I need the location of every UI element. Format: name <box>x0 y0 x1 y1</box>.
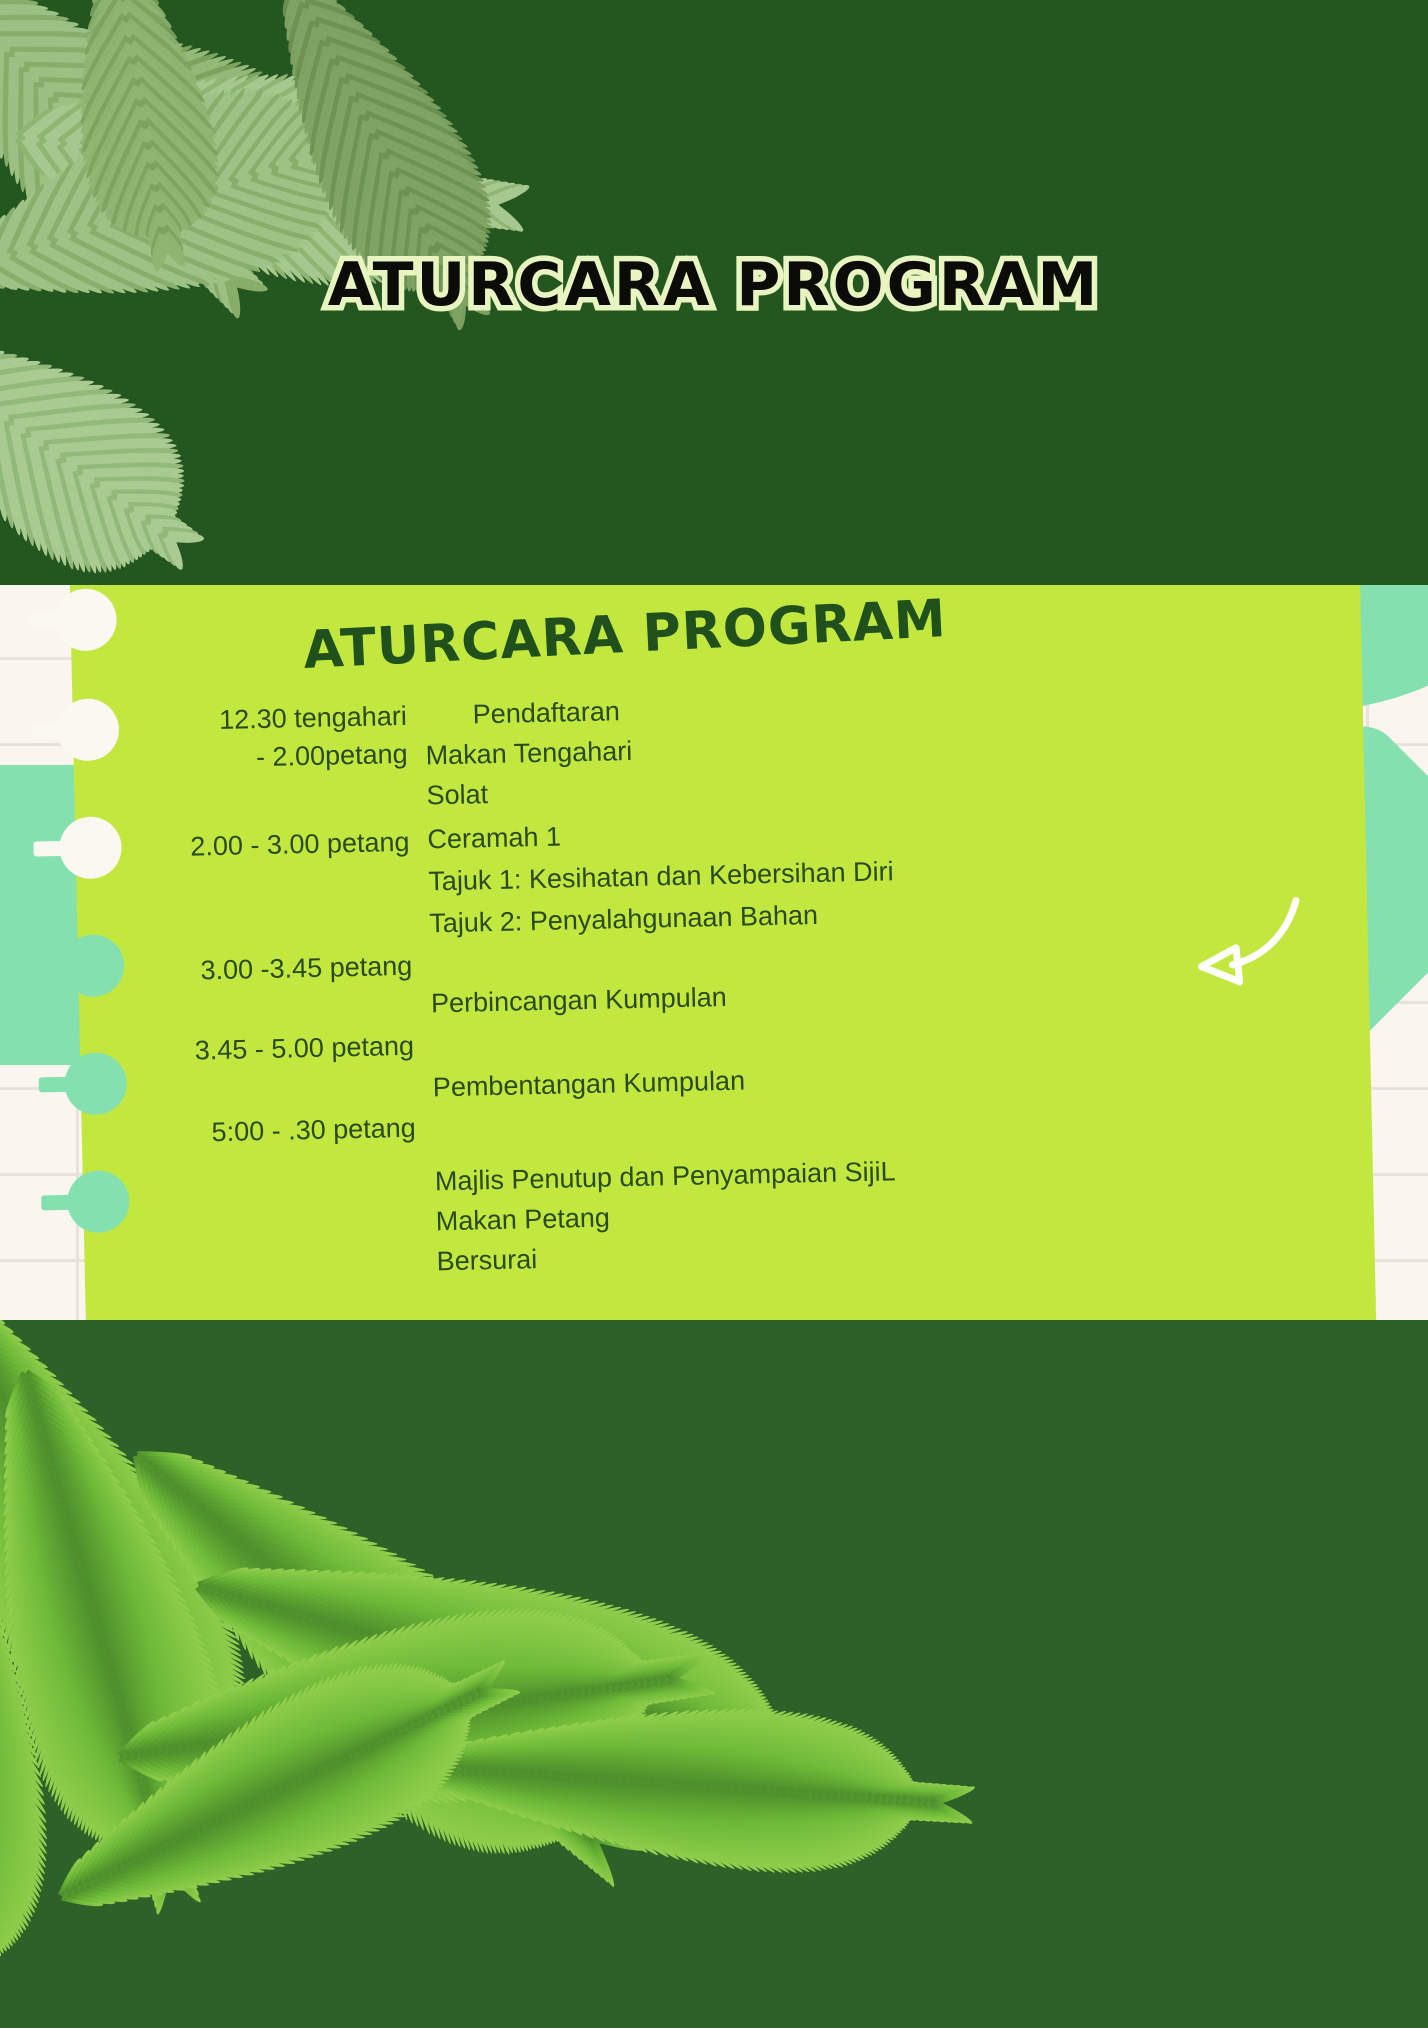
punch-hole-icon <box>61 934 124 997</box>
schedule-activity-4: Tajuk 1: Kesihatan dan Kebersihan Diri <box>428 855 894 898</box>
punch-hole-icon <box>56 698 119 761</box>
schedule-time-column: 12.30 tengahari- 2.00petang2.00 - 3.00 p… <box>106 700 406 707</box>
schedule-card: ATURCARA PROGRAM 12.30 tengahari- 2.00pe… <box>69 585 1376 1320</box>
poster-canvas: ATURCARA PROGRAM ATURCARA PROGRAM 12.30 … <box>0 0 1428 2028</box>
schedule-activity-10: Bersurai <box>436 1243 537 1278</box>
punch-hole-icon <box>59 816 122 879</box>
punch-hole-icon <box>54 588 117 651</box>
punch-hole-icon <box>64 1052 127 1115</box>
schedule-activity-column: PendaftaranMakan TengahariSolatCeramah 1… <box>424 682 1204 699</box>
schedule-activity-6: Perbincangan Kumpulan <box>431 981 727 1020</box>
curved-arrow-left-icon <box>1175 892 1307 1005</box>
punch-hole-icon <box>67 1170 130 1233</box>
schedule-time-4: 3.45 - 5.00 petang <box>194 1030 414 1068</box>
schedule-activity-0: Pendaftaran <box>424 695 620 732</box>
top-banner: ATURCARA PROGRAM <box>0 0 1428 585</box>
schedule-time-2: 2.00 - 3.00 petang <box>190 826 410 864</box>
schedule-activity-1: Makan Tengahari <box>425 735 632 772</box>
schedule-activity-3: Ceramah 1 <box>427 821 561 857</box>
page-title: ATURCARA PROGRAM <box>0 250 1428 320</box>
schedule-time-0: 12.30 tengahari <box>219 700 407 737</box>
schedule-activity-9: Makan Petang <box>435 1202 610 1239</box>
card-title: ATURCARA PROGRAM <box>302 589 948 681</box>
schedule-activity-5: Tajuk 2: Penyalahgunaan Bahan <box>429 899 818 940</box>
schedule-activity-7: Pembentangan Kumpulan <box>433 1065 746 1105</box>
bottom-banner <box>0 1320 1428 2028</box>
schedule-activity-2: Solat <box>426 778 488 812</box>
schedule-time-5: 5:00 - .30 petang <box>211 1112 416 1149</box>
schedule-time-1: - 2.00petang <box>256 738 408 774</box>
schedule-activity-8: Majlis Penutup dan Penyampaian SijiL <box>435 1155 896 1198</box>
schedule-time-3: 3.00 -3.45 petang <box>200 950 412 988</box>
schedule-section: ATURCARA PROGRAM 12.30 tengahari- 2.00pe… <box>0 585 1428 1320</box>
schedule-table: 12.30 tengahari- 2.00petang2.00 - 3.00 p… <box>72 679 1362 707</box>
